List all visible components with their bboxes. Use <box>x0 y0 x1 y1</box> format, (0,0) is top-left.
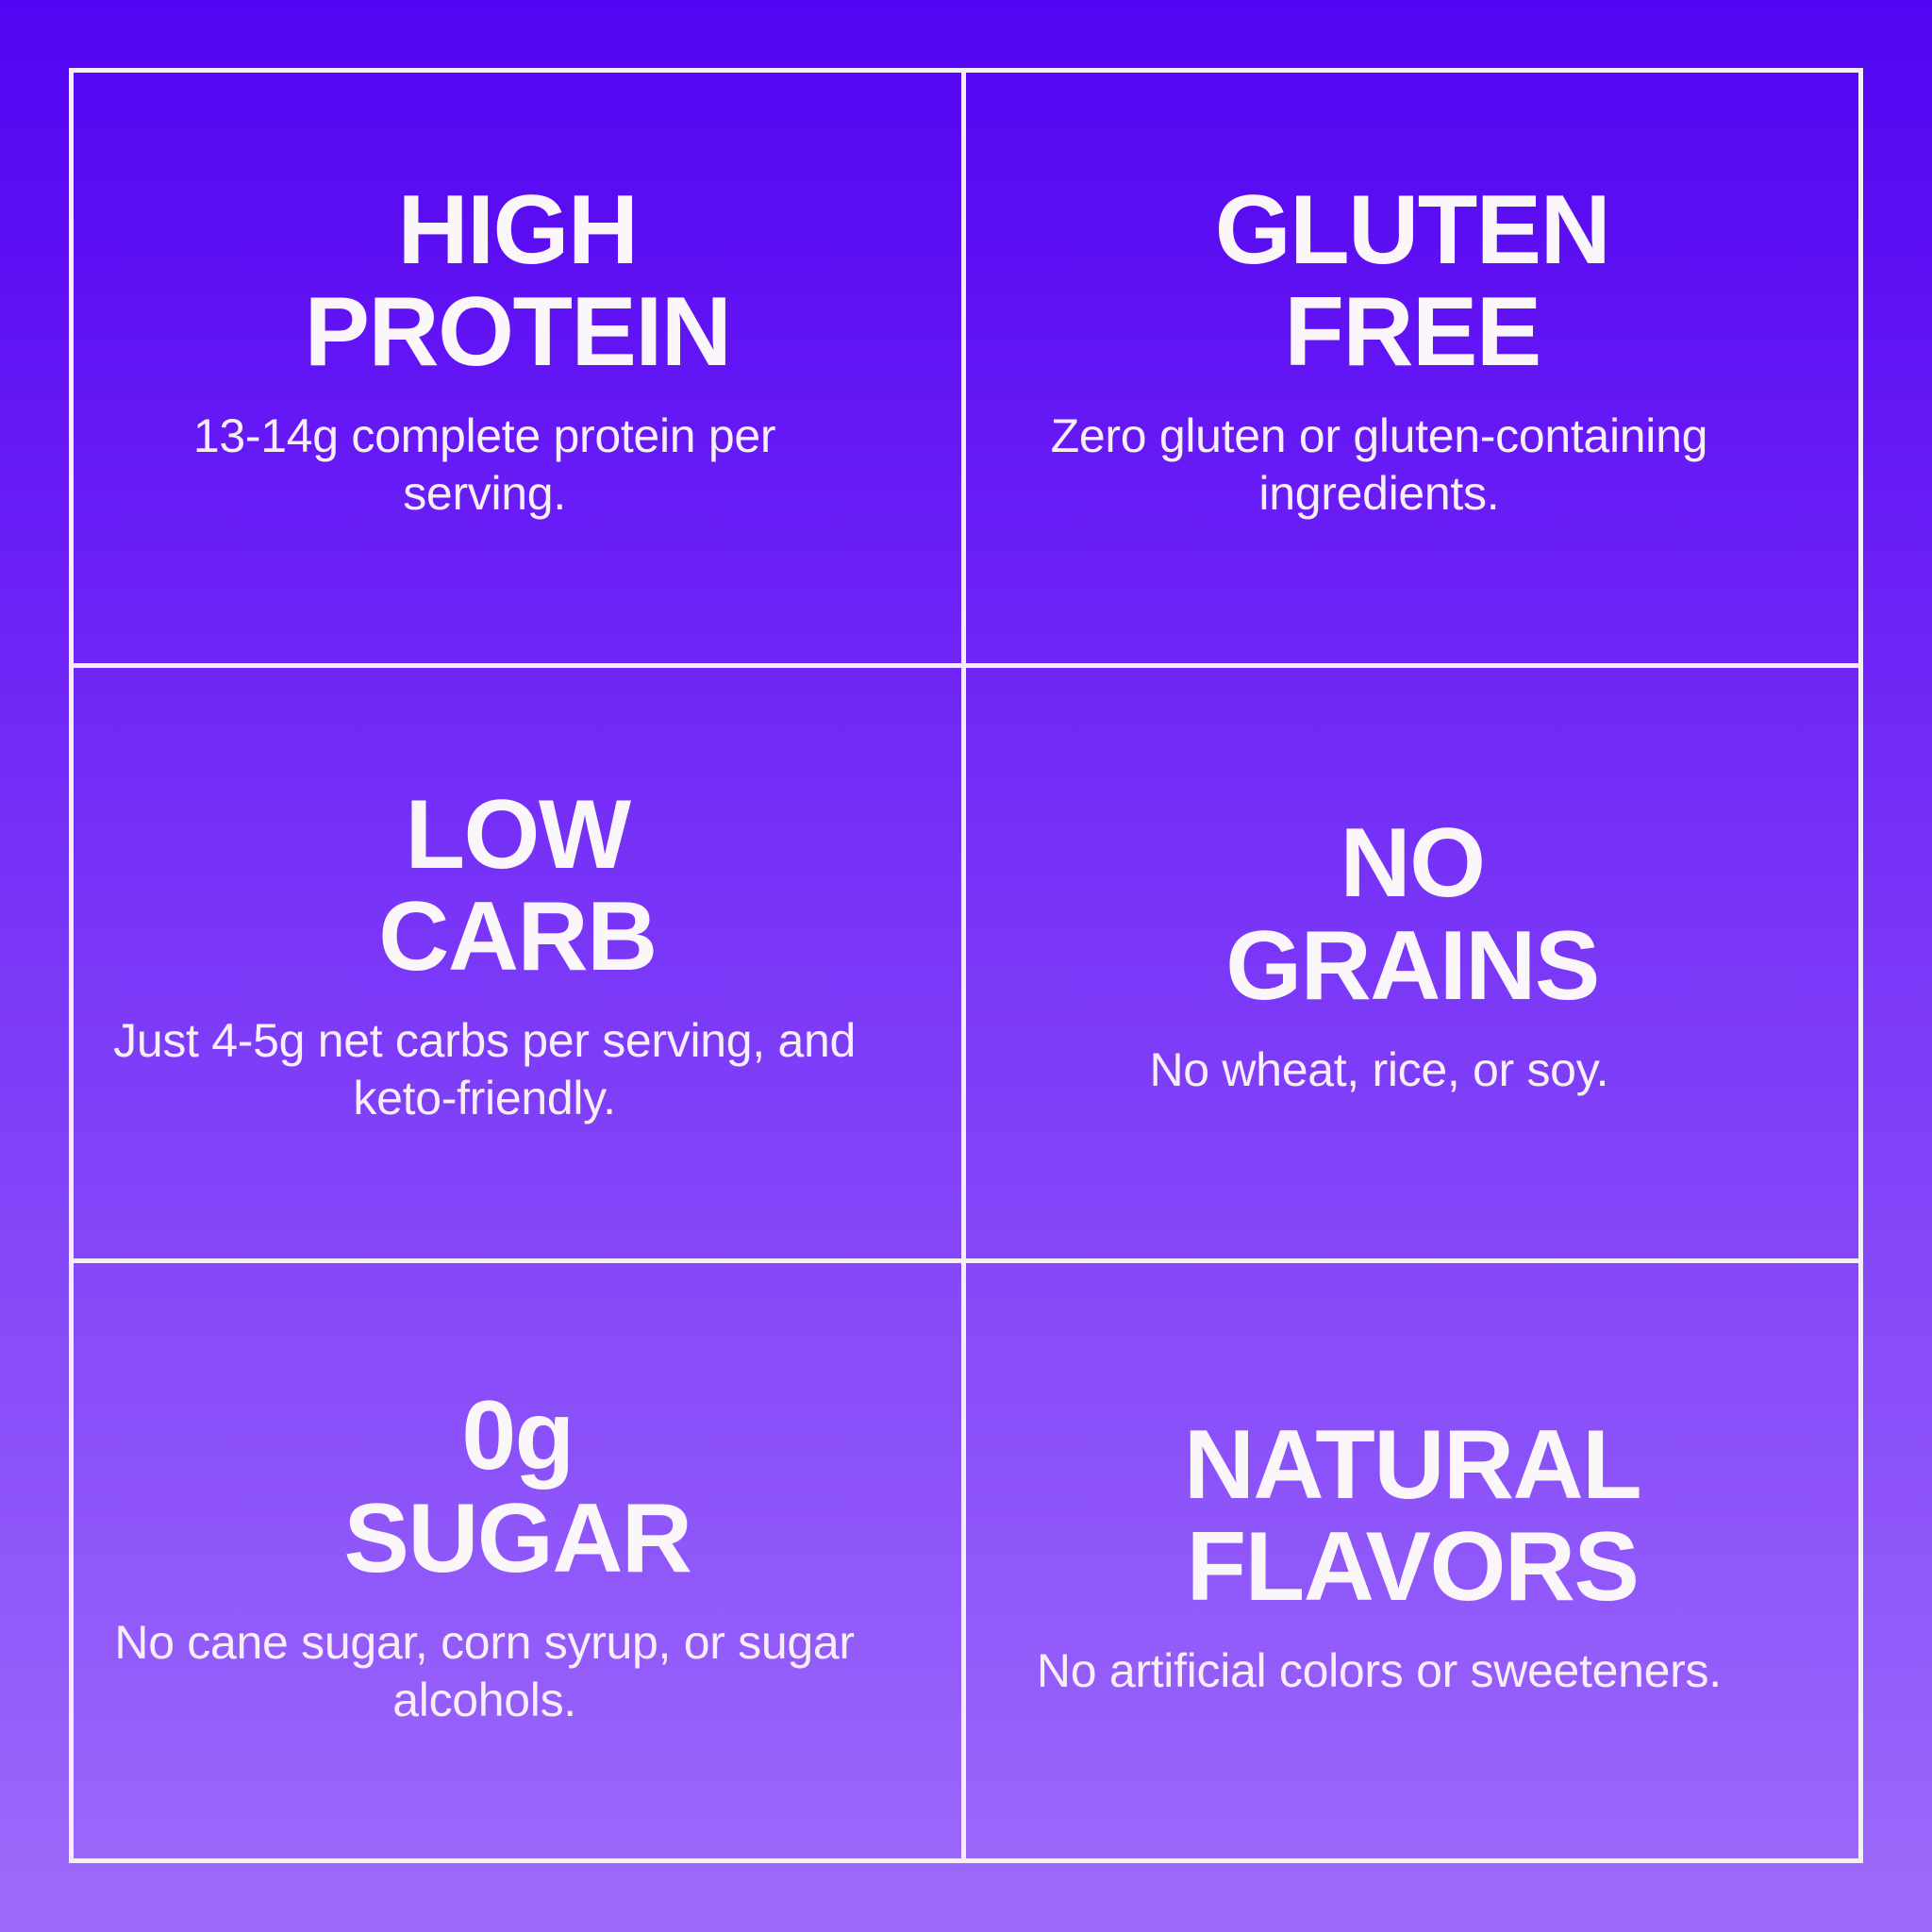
benefits-grid: HIGH PROTEIN 13-14g complete protein per… <box>74 73 1858 1858</box>
benefit-headline-line2: FLAVORS <box>998 1516 1826 1618</box>
benefit-headline-line1: NATURAL <box>1184 1410 1641 1520</box>
benefit-cell-zero-sugar: 0g SUGAR No cane sugar, corn syrup, or s… <box>74 1263 966 1858</box>
benefit-cell-natural-flavors: NATURAL FLAVORS No artificial colors or … <box>966 1263 1858 1858</box>
benefit-cell-no-grains: NO GRAINS No wheat, rice, or soy. <box>966 668 1858 1263</box>
benefit-subline: No wheat, rice, or soy. <box>998 1041 1760 1099</box>
benefit-cell-gluten-free: GLUTEN FREE Zero gluten or gluten-contai… <box>966 73 1858 668</box>
benefit-subline: Zero gluten or gluten-containing ingredi… <box>998 408 1760 523</box>
benefits-infographic: HIGH PROTEIN 13-14g complete protein per… <box>0 0 1932 1932</box>
benefit-headline: NO GRAINS <box>998 812 1826 1016</box>
benefit-cell-high-protein: HIGH PROTEIN 13-14g complete protein per… <box>74 73 966 668</box>
benefit-headline-line2: PROTEIN <box>106 281 929 383</box>
benefit-headline-line1: NO <box>1341 808 1485 918</box>
benefit-headline-line1: GLUTEN <box>1215 175 1610 285</box>
benefit-headline: GLUTEN FREE <box>998 179 1826 383</box>
benefit-subline: No cane sugar, corn syrup, or sugar alco… <box>106 1614 863 1729</box>
benefit-headline-line1: HIGH <box>398 175 638 285</box>
benefit-headline-line1: LOW <box>405 780 629 890</box>
benefit-headline-line2: CARB <box>106 886 929 988</box>
benefit-headline-line2: FREE <box>998 281 1826 383</box>
benefit-headline-line1: 0g <box>461 1381 573 1491</box>
benefit-headline: 0g SUGAR <box>106 1385 929 1589</box>
benefit-subline: 13-14g complete protein per serving. <box>106 408 863 523</box>
benefit-headline-line2: GRAINS <box>998 915 1826 1017</box>
benefit-cell-low-carb: LOW CARB Just 4-5g net carbs per serving… <box>74 668 966 1263</box>
benefit-headline: NATURAL FLAVORS <box>998 1414 1826 1618</box>
benefit-subline: Just 4-5g net carbs per serving, and ket… <box>106 1012 863 1127</box>
benefit-subline: No artificial colors or sweeteners. <box>998 1642 1760 1700</box>
benefit-headline: HIGH PROTEIN <box>106 179 929 383</box>
benefit-headline: LOW CARB <box>106 784 929 988</box>
benefit-headline-line2: SUGAR <box>106 1488 929 1590</box>
